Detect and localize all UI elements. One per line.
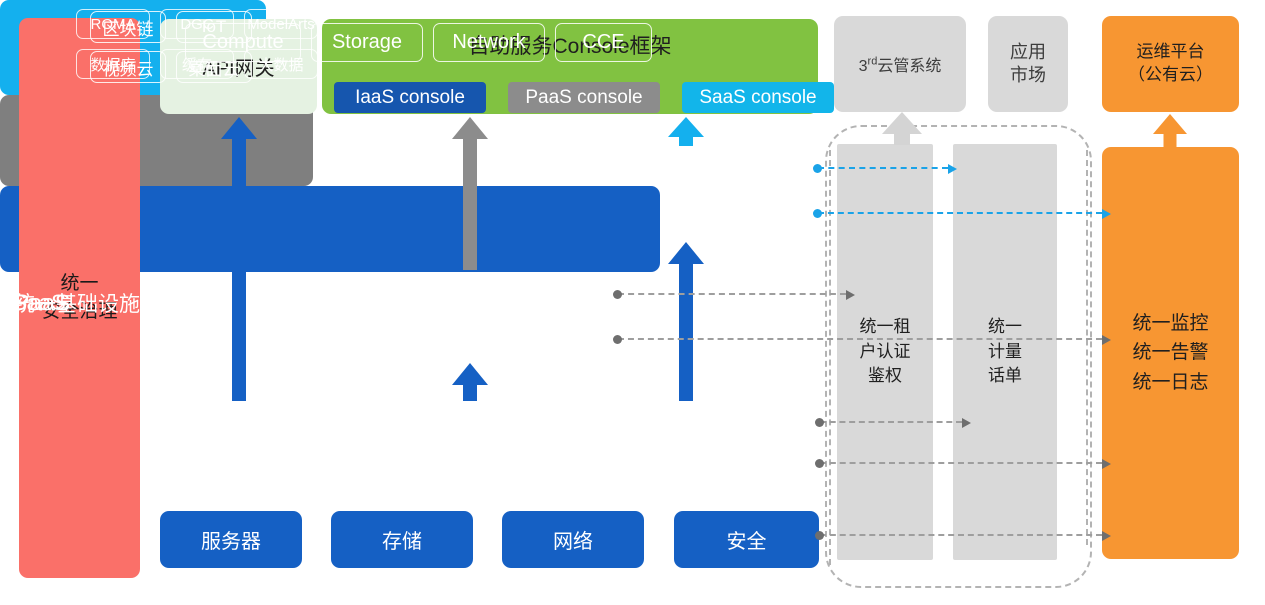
shared-service-0-text: 统一租 户认证 鉴权: [860, 315, 911, 389]
paas-console-label: PaaS console: [525, 87, 642, 109]
connector-infra-to-metering: [820, 421, 962, 423]
infra-chip-0-label: Compute: [202, 31, 283, 54]
connector-paas-to-tenant-auth: [618, 293, 846, 295]
paas-chip-database[interactable]: 数据库: [76, 49, 150, 79]
infra-chip-compute[interactable]: Compute: [185, 23, 301, 62]
paas-chip-roma[interactable]: ROMA: [76, 9, 150, 39]
shared-1-line1: 统一: [988, 315, 1022, 340]
unified-monitoring-alarm-log-panel[interactable]: 统一监控 统一告警 统一日志: [1102, 147, 1239, 559]
arrow-ops-tall-to-ops-top: [1152, 114, 1188, 147]
resource-box-server[interactable]: 服务器: [160, 511, 302, 568]
ops-platform-top-line1: 运维平台: [1128, 41, 1213, 64]
unified-metering-billing-panel[interactable]: 统一 计量 话单: [953, 144, 1057, 560]
resource-3-label: 安全: [727, 525, 767, 554]
iaas-console-label: IaaS console: [355, 87, 465, 109]
shared-0-line3: 鉴权: [860, 364, 911, 389]
paas-console-chip[interactable]: PaaS console: [508, 82, 660, 113]
shared-0-line1: 统一租: [860, 315, 911, 340]
shared-1-line3: 话单: [988, 364, 1022, 389]
arrow-infra-to-saas: [668, 242, 704, 401]
iaas-console-chip[interactable]: IaaS console: [334, 82, 486, 113]
resource-box-network[interactable]: 网络: [502, 511, 644, 568]
ops-tall-line3: 统一日志: [1132, 368, 1208, 397]
saas-console-label: SaaS console: [699, 87, 816, 109]
shared-0-line2: 户认证: [860, 340, 911, 365]
arrow-shared-to-third-cloud: [882, 112, 922, 145]
ops-platform-public-cloud-box[interactable]: 运维平台 （公有云）: [1102, 16, 1239, 112]
infra-chip-cce[interactable]: CCE: [555, 23, 652, 62]
infra-chip-storage[interactable]: Storage: [311, 23, 423, 62]
connector-resources-to-ops: [820, 534, 1102, 536]
app-market-text: 应用 市场: [1010, 41, 1046, 88]
saas-console-chip[interactable]: SaaS console: [682, 82, 834, 113]
arrow-paas-to-console: [452, 117, 488, 270]
resource-2-label: 网络: [553, 525, 593, 554]
infra-chip-network[interactable]: Network: [433, 23, 545, 62]
ops-platform-top-line2: （公有云）: [1128, 64, 1213, 87]
app-market-box[interactable]: 应用 市场: [988, 16, 1068, 112]
infra-chip-1-label: Storage: [332, 31, 402, 54]
ops-tall-line1: 统一监控: [1132, 309, 1208, 338]
infra-chip-3-label: CCE: [582, 31, 624, 54]
third-party-cloud-management-box[interactable]: 3rd云管系统: [834, 16, 966, 112]
connector-saas-to-metering: [818, 167, 948, 169]
infra-chip-2-label: Network: [452, 31, 525, 54]
connector-paas-to-ops: [618, 338, 1102, 340]
app-market-line2: 市场: [1010, 64, 1046, 87]
arrow-infra-to-api-gateway: [221, 117, 257, 401]
paas-chip-0-label: ROMA: [91, 16, 136, 33]
app-market-line1: 应用: [1010, 41, 1046, 64]
connector-infra-to-ops: [820, 462, 1102, 464]
architecture-diagram: 统一 安全治理 API网关 自助服务Console框架 IaaS console…: [0, 0, 1265, 605]
paas-chip-3-label: 数据库: [90, 54, 135, 75]
ops-platform-tall-text: 统一监控 统一告警 统一日志: [1132, 309, 1208, 397]
shared-1-line2: 计量: [988, 340, 1022, 365]
container-guide-right: [1086, 150, 1088, 545]
unified-tenant-auth-panel[interactable]: 统一租 户认证 鉴权: [837, 144, 933, 560]
infrastructure-label: 统一基础设施服务: [14, 288, 182, 318]
third-party-prefix: 3: [859, 58, 868, 75]
resource-0-label: 服务器: [201, 525, 261, 554]
arrow-saas-to-console: [668, 117, 704, 146]
resource-box-security[interactable]: 安全: [674, 511, 819, 568]
third-party-suffix: 云管系统: [877, 58, 941, 75]
third-party-cloud-label: 3rd云管系统: [859, 52, 942, 76]
arrow-infra-to-paas: [452, 363, 488, 401]
ops-platform-top-text: 运维平台 （公有云）: [1128, 41, 1213, 87]
ops-tall-line2: 统一告警: [1132, 338, 1208, 367]
connector-saas-to-ops: [818, 212, 1102, 214]
shared-service-1-text: 统一 计量 话单: [988, 315, 1022, 389]
third-party-superscript: rd: [868, 56, 878, 68]
resource-box-storage[interactable]: 存储: [331, 511, 473, 568]
resource-1-label: 存储: [382, 525, 422, 554]
